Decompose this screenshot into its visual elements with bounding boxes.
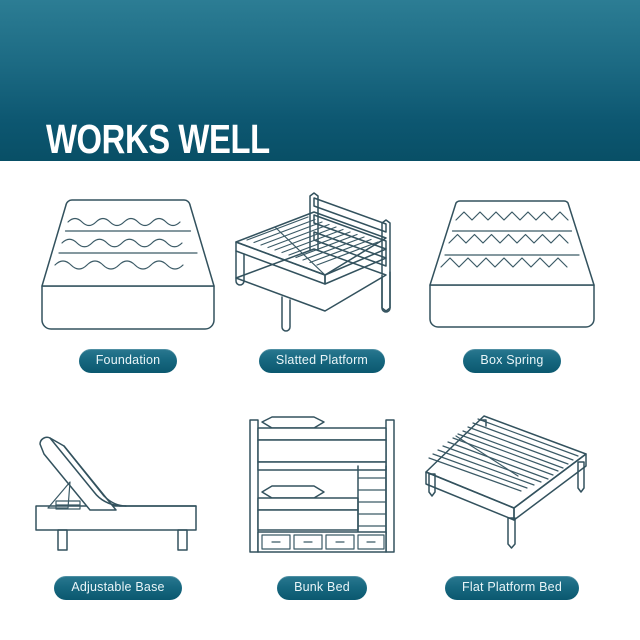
base-card-slatted-platform: Slatted Platform [222,179,422,394]
adjustable-base-icon [18,406,218,578]
base-label-bunk-bed[interactable]: Bunk Bed [277,576,367,600]
slatted-platform-bed-icon [222,179,422,351]
box-spring-icon [412,179,612,351]
base-label-wrap-slatted-platform: Slatted Platform [222,349,422,373]
page-title: WORKS WELL WITH THESE BASES [46,27,364,161]
flat-platform-bed-icon [412,406,612,578]
base-card-adjustable-base: Adjustable Base [18,406,218,621]
base-label-box-spring[interactable]: Box Spring [463,349,560,373]
base-card-bunk-bed: Bunk Bed [222,406,422,621]
base-label-adjustable-base[interactable]: Adjustable Base [54,576,181,600]
base-label-foundation[interactable]: Foundation [79,349,178,373]
base-label-flat-platform-bed[interactable]: Flat Platform Bed [445,576,579,600]
base-label-wrap-foundation: Foundation [28,349,228,373]
base-label-slatted-platform[interactable]: Slatted Platform [259,349,385,373]
base-card-box-spring: Box Spring [412,179,612,394]
base-label-wrap-bunk-bed: Bunk Bed [222,576,422,600]
bases-grid: Foundation [0,161,640,640]
base-label-wrap-flat-platform-bed: Flat Platform Bed [412,576,612,600]
foundation-mattress-icon [28,179,228,351]
bunk-bed-icon [222,406,422,578]
infographic-page: WORKS WELL WITH THESE BASES [0,0,640,640]
base-label-wrap-adjustable-base: Adjustable Base [18,576,218,600]
header-banner: WORKS WELL WITH THESE BASES [0,0,640,161]
base-card-foundation: Foundation [28,179,228,394]
page-title-line-1: WORKS WELL [46,117,364,161]
base-label-wrap-box-spring: Box Spring [412,349,612,373]
base-card-flat-platform-bed: Flat Platform Bed [412,406,612,621]
